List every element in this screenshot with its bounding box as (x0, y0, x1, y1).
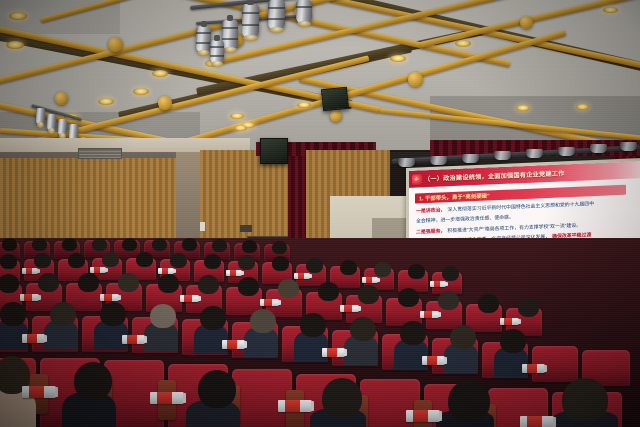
stage-light (558, 147, 575, 156)
attendee-head (340, 260, 357, 275)
attendee-head (92, 238, 107, 251)
bottled-water (522, 364, 545, 373)
bottled-water (22, 386, 56, 398)
attendee-head (152, 238, 167, 251)
bottled-water (158, 268, 174, 274)
bottled-water (500, 318, 519, 325)
recessed-downlight (576, 104, 589, 110)
attendee-head (38, 273, 59, 292)
stage-light (398, 158, 415, 167)
attendee-head (198, 275, 219, 294)
attendee-head (318, 282, 339, 301)
attendee-head (62, 238, 77, 251)
attendee-head (0, 302, 26, 326)
attendee-head (300, 313, 326, 337)
recessed-downlight (390, 55, 406, 62)
slide-title: （一）政治建设统领，全面加强国有企业党建工作 (424, 168, 565, 183)
recessed-downlight (152, 70, 168, 77)
attendee-head (170, 253, 187, 268)
bottled-water (20, 294, 39, 301)
recessed-downlight (98, 98, 114, 105)
attendee-head (50, 302, 76, 326)
attendee-head (34, 253, 51, 268)
attendee-head (448, 380, 490, 422)
bottled-water (222, 340, 245, 349)
attendee-head (478, 294, 499, 313)
attendee-head (68, 253, 85, 268)
bottled-water (100, 294, 119, 301)
recessed-downlight (516, 105, 530, 111)
attendee-head (100, 302, 126, 326)
attendee-head (562, 378, 608, 422)
attendee-head (400, 321, 426, 345)
bottled-water (340, 305, 359, 312)
attendee-head (272, 256, 289, 271)
ceiling-beam-node (108, 37, 123, 52)
ceiling-beam-node (55, 92, 68, 105)
attendee-head (450, 325, 476, 349)
hanging-stage-light (242, 4, 259, 38)
recessed-downlight (6, 41, 24, 49)
attendee-head (2, 238, 17, 251)
stage-light (526, 149, 543, 158)
hanging-stage-light (210, 40, 224, 64)
attendee-head (374, 262, 391, 277)
ceiling-speaker (321, 87, 349, 112)
bottled-water (22, 268, 38, 274)
recessed-downlight (9, 12, 27, 20)
stage-light (430, 156, 447, 165)
recessed-downlight (234, 125, 247, 131)
ceiling (0, 0, 640, 150)
audience-area (0, 238, 640, 427)
slide-title-bar: （一）政治建设统领，全面加强国有企业党建工作 (409, 161, 640, 188)
stage-light (494, 151, 511, 160)
bottled-water (430, 281, 446, 287)
attendee-head (150, 304, 176, 328)
bottled-water (122, 335, 145, 344)
slide-line-key: 一是讲政治， (416, 206, 445, 214)
attendee-head (136, 252, 153, 267)
bottled-water (422, 356, 445, 365)
attendee-head (350, 317, 376, 341)
hammer-and-sickle-icon (412, 174, 422, 184)
bottled-water (322, 348, 345, 357)
recessed-downlight (455, 40, 471, 47)
bottled-water (294, 273, 310, 279)
attendee-head (398, 288, 419, 307)
attendee-head (272, 241, 287, 254)
bottled-water (150, 392, 184, 404)
attendee-head (118, 273, 139, 292)
wall-speaker-left (260, 138, 288, 164)
attendee-head (442, 266, 459, 281)
wall-switch-plate (200, 222, 205, 231)
attendee-head (200, 306, 226, 330)
attendee-head (238, 255, 255, 270)
attendee-head (518, 298, 539, 317)
hanging-stage-light (196, 26, 211, 53)
bottled-water (22, 334, 45, 343)
bottled-water (260, 299, 279, 306)
attendee-head (322, 378, 362, 418)
attendee-head (500, 329, 526, 353)
attendee-head (78, 273, 99, 292)
attendee-head (74, 362, 112, 400)
attendee-head (358, 285, 379, 304)
wall-outlet (240, 225, 252, 232)
bottled-water (420, 311, 439, 318)
auditorium-photo: （一）政治建设统领，全面加强国有企业党建工作 1. 干部带头，勇于“亮剑硬碰” … (0, 0, 640, 427)
attendee-head (238, 277, 259, 296)
attendee-head (198, 370, 236, 408)
hanging-stage-light (222, 20, 238, 50)
ceiling-beam-node (330, 110, 342, 122)
recessed-downlight (297, 102, 311, 108)
hanging-stage-light (58, 119, 67, 136)
stage-light (462, 154, 479, 163)
hanging-stage-light (47, 114, 56, 131)
slide-line-key: 二是强服务， (416, 227, 445, 235)
attendee-head (158, 274, 179, 293)
air-vent (78, 148, 122, 159)
stage-light (620, 142, 637, 151)
recessed-downlight (133, 88, 149, 95)
attendee-head (242, 240, 257, 253)
attendee-head (306, 258, 323, 273)
attendee-head (408, 264, 425, 279)
attendee-head (250, 309, 276, 333)
recessed-downlight (603, 7, 618, 13)
bottled-water (278, 400, 312, 412)
attendee-head (278, 279, 299, 298)
bottled-water (406, 410, 440, 422)
attendee-head (32, 238, 47, 251)
attendee-head (0, 274, 19, 293)
slide-subtitle: 1. 干部带头，勇于“亮剑硬碰” (419, 191, 490, 202)
ceiling-beam-node (520, 16, 533, 29)
bottled-water (180, 295, 199, 302)
hanging-stage-light (296, 0, 312, 24)
bottled-water (90, 267, 106, 273)
attendee-head (204, 254, 221, 269)
ceiling-beam-node (158, 96, 172, 110)
attendee-head (102, 252, 119, 267)
attendee-head (212, 239, 227, 252)
bottled-water (362, 277, 378, 283)
bottled-water (226, 270, 242, 276)
attendee-head (122, 238, 137, 251)
hanging-stage-light (268, 0, 285, 30)
ceiling-beam-node (408, 72, 423, 87)
attendee-head (438, 291, 459, 310)
hanging-stage-light (36, 108, 45, 125)
bottled-water (520, 416, 554, 427)
slide-line-text: 全会精神，进一步增强政治责任感、使命感。 (416, 214, 514, 225)
attendee-head (182, 238, 197, 251)
stage-light (590, 144, 607, 153)
recessed-downlight (230, 113, 244, 119)
attendee-head (0, 254, 17, 269)
